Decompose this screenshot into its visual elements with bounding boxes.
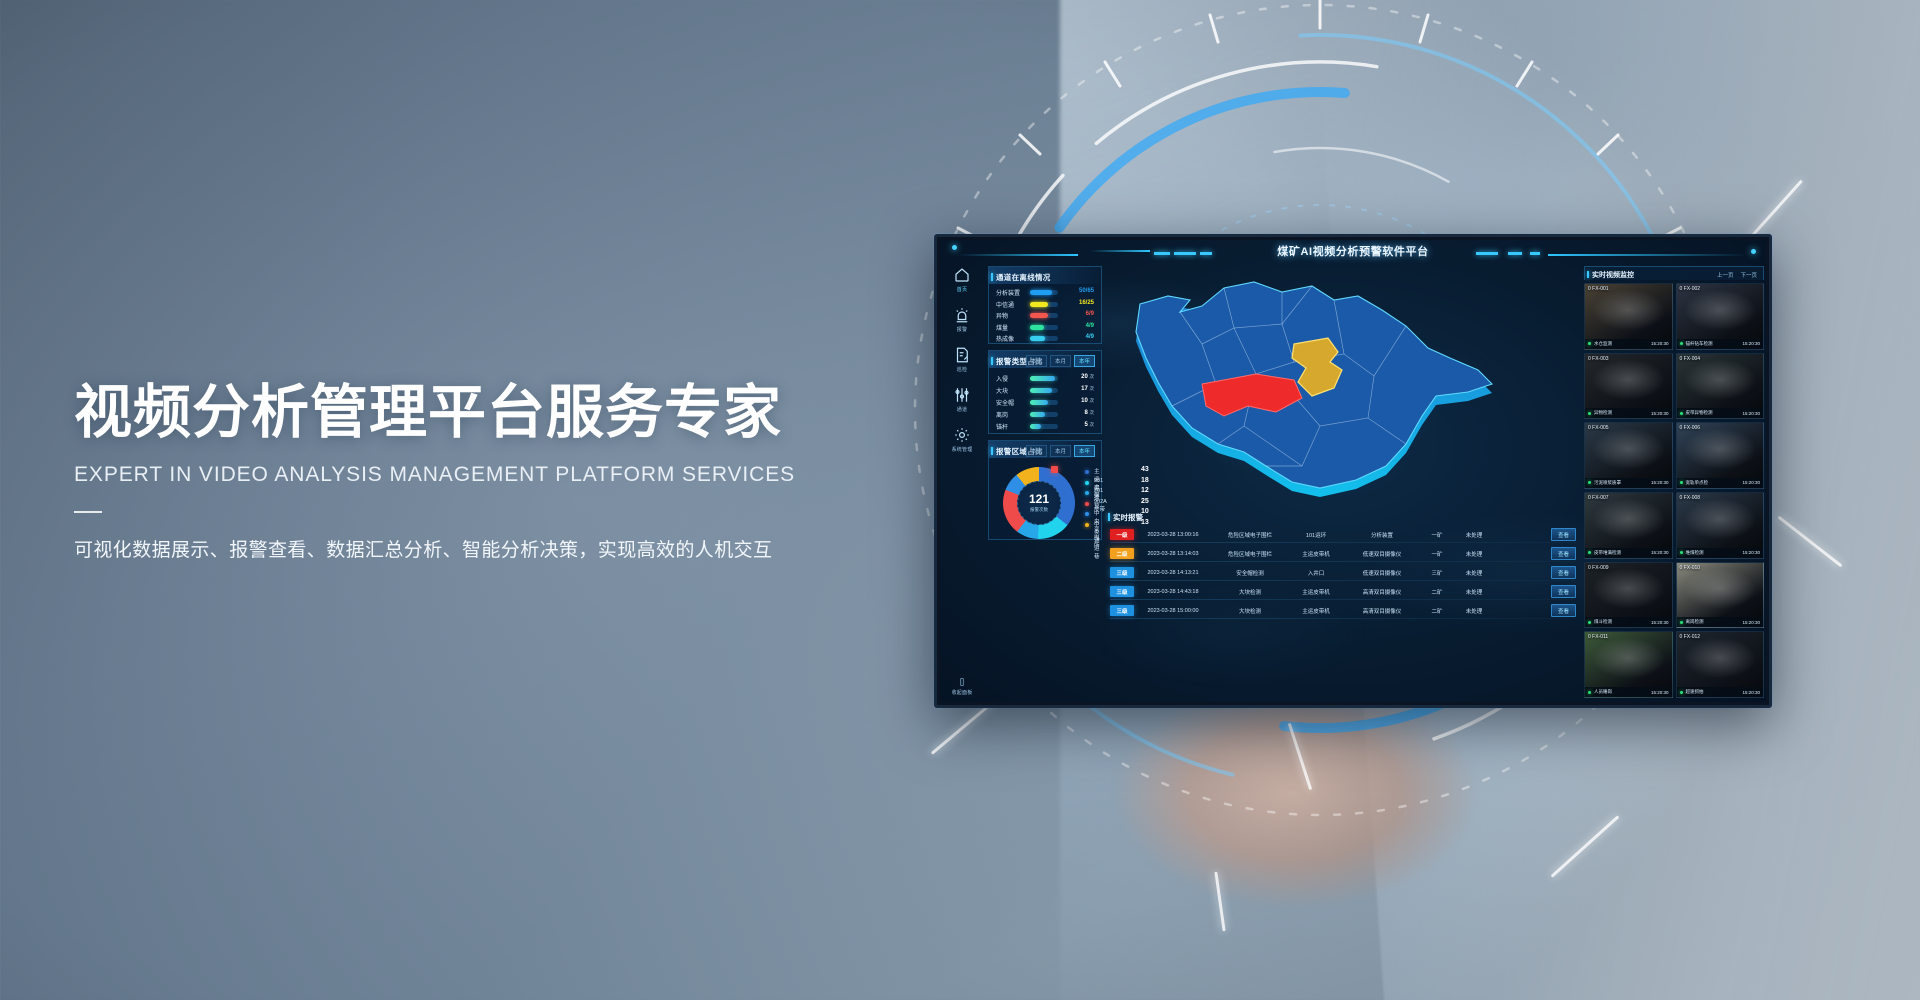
camera-id: 0 FX-010	[1680, 565, 1701, 571]
channel-bar-label: 热成像	[996, 334, 1028, 343]
channel-bar-label: 分析装置	[996, 288, 1028, 297]
camera-footer: 皮带堆满检测15:20:30	[1585, 548, 1672, 558]
alarm-device: 高清双目摄像仪	[1344, 607, 1420, 615]
alarm-location: 主运皮带机	[1288, 550, 1344, 558]
view-button[interactable]: 查看	[1551, 528, 1576, 541]
alarm-status: 未处理	[1454, 607, 1494, 615]
camera-name: 宽轨单点检	[1686, 480, 1709, 486]
camera-timestamp: 15:20:30	[1742, 480, 1760, 485]
alarm-type-value: 10 次	[1060, 398, 1094, 404]
alarm-mine: 一矿	[1420, 550, 1454, 558]
camera-id: 0 FX-004	[1680, 356, 1701, 362]
camera-name: 异物检测	[1594, 410, 1612, 416]
channel-bar-fill	[1030, 325, 1044, 330]
view-button[interactable]: 查看	[1551, 547, 1576, 560]
sidebar: 首页 报警 巡检 通道 系统管理	[940, 262, 984, 702]
status-dot-icon	[1588, 691, 1591, 694]
alarm-type: 大块检测	[1212, 607, 1288, 615]
camera-timestamp: 15:20:30	[1742, 341, 1760, 346]
alarm-status: 未处理	[1454, 550, 1494, 558]
camera-footer: 异物检测15:20:30	[1585, 408, 1672, 418]
legend-item: 201运算12	[1085, 488, 1095, 499]
alarm-type: 大块检测	[1212, 588, 1288, 596]
camera-footer: 人员睡岗15:20:30	[1585, 687, 1672, 697]
camera-id: 0 FX-003	[1588, 356, 1609, 362]
status-dot-icon	[1680, 412, 1683, 415]
camera-tile[interactable]: 0 FX-003异物检测15:20:30	[1584, 353, 1673, 420]
camera-tile[interactable]: 0 FX-004皮带异物检测15:20:30	[1676, 353, 1765, 420]
camera-name: 超速抓拍	[1686, 689, 1704, 695]
video-surveillance-panel: 实时视频监控 上一页 下一页 0 FX-001水仓监测15:20:300 FX-…	[1584, 266, 1764, 698]
alarm-type-track	[1030, 388, 1058, 393]
sidebar-item-label: 通道	[940, 406, 984, 413]
camera-id: 0 FX-005	[1588, 425, 1609, 431]
video-panel-title: 实时视频监控	[1592, 270, 1634, 280]
home-icon	[953, 266, 971, 284]
alarm-mine: 二矿	[1420, 607, 1454, 615]
channel-bar-track	[1030, 325, 1058, 330]
alarm-device: 低速双目摄像仪	[1344, 569, 1420, 577]
alarm-device: 低速双目摄像仪	[1344, 550, 1420, 558]
camera-timestamp: 15:20:30	[1742, 550, 1760, 555]
dashboard-header: 煤矿AI视频分析预警软件平台	[940, 240, 1766, 266]
table-row[interactable]: 三级2023-03-28 14:13:21安全帽检测入井口低速双目摄像仪三矿未处…	[1110, 564, 1576, 581]
camera-name: 离岗检测	[1686, 619, 1704, 625]
channel-bar-value: 16/25	[1060, 300, 1094, 306]
camera-name: 煤斗检测	[1594, 619, 1612, 625]
status-dot-icon	[1588, 481, 1591, 484]
realtime-alarm-table: 实时报警 一级2023-03-28 13:00:16危险区域电子围栏101运环分…	[1106, 512, 1580, 698]
alarm-type: 安全帽检测	[1212, 569, 1288, 577]
alarm-type-value: 20 次	[1060, 374, 1094, 380]
alarm-status: 未处理	[1454, 569, 1494, 577]
view-button[interactable]: 查看	[1551, 604, 1576, 617]
alarm-device: 分析装置	[1344, 531, 1420, 539]
legend-item: 902A皮带25	[1085, 499, 1095, 510]
sidebar-item-inspection[interactable]: 巡检	[940, 346, 984, 373]
view-button[interactable]: 查看	[1551, 585, 1576, 598]
legend-dot	[1085, 523, 1089, 527]
page-description: 可视化数据展示、报警查看、数据汇总分析、智能分析决策，实现高效的人机交互	[74, 535, 934, 562]
alarm-type-fill	[1030, 388, 1052, 393]
camera-tile[interactable]: 0 FX-006宽轨单点检15:20:30	[1676, 422, 1765, 489]
sidebar-item-home[interactable]: 首页	[940, 266, 984, 293]
camera-tile[interactable]: 0 FX-005污泥喷浆质罩15:20:30	[1584, 422, 1673, 489]
camera-id: 0 FX-006	[1680, 425, 1701, 431]
page-subtitle: EXPERT IN VIDEO ANALYSIS MANAGEMENT PLAT…	[74, 463, 934, 487]
camera-timestamp: 15:20:30	[1742, 690, 1760, 695]
video-pagination: 上一页 下一页	[1717, 271, 1757, 279]
tab-本月[interactable]: 本月	[1050, 355, 1071, 367]
channel-bar-row: 煤量4/9	[996, 322, 1094, 333]
alarm-time: 2023-03-28 13:00:16	[1134, 532, 1212, 538]
camera-id: 0 FX-011	[1588, 634, 1608, 640]
camera-tile[interactable]: 0 FX-007皮带堆满检测15:20:30	[1584, 492, 1673, 559]
channel-bar-value: 4/9	[1060, 323, 1094, 329]
legend-item: 主运皮带43	[1085, 467, 1095, 478]
camera-id: 0 FX-007	[1588, 495, 1609, 501]
channel-bar-track	[1030, 313, 1058, 318]
camera-tile[interactable]: 0 FX-011人员睡岗15:20:30	[1584, 631, 1673, 698]
channel-bar-fill	[1030, 302, 1048, 307]
alarm-table-title: 实时报警	[1113, 512, 1143, 523]
donut-center: 121 报警次数	[1017, 481, 1061, 525]
channel-bar-row: 异物6/9	[996, 310, 1094, 321]
alarm-time: 2023-03-28 13:14:03	[1134, 551, 1212, 557]
channel-bar-label: 异物	[996, 311, 1028, 320]
status-badge: 三级	[1110, 567, 1134, 578]
status-badge: 二级	[1110, 548, 1134, 559]
alarm-area-panel: 报警区域占比 本周本月本年 121 报警次数 主运皮带43901运环18201运…	[988, 440, 1102, 540]
channel-bar-fill	[1030, 313, 1048, 318]
page-title: 视频分析管理平台服务专家	[74, 382, 934, 445]
channel-bar-value: 50/65	[1060, 288, 1094, 294]
camera-name: 皮带堆满检测	[1594, 550, 1621, 556]
alarm-time: 2023-03-28 14:13:21	[1134, 570, 1212, 576]
camera-footer: 堆煤检测15:20:30	[1677, 548, 1764, 558]
channel-bar-track	[1030, 290, 1058, 295]
camera-name: 水仓监测	[1594, 341, 1612, 347]
status-badge: 三级	[1110, 605, 1134, 616]
alarm-type-fill	[1030, 424, 1041, 429]
camera-footer: 煤斗检测15:20:30	[1585, 617, 1672, 627]
camera-name: 污泥喷浆质罩	[1594, 480, 1621, 486]
camera-grid: 0 FX-001水仓监测15:20:300 FX-002锚杆钻车检测15:20:…	[1584, 280, 1764, 698]
camera-id: 0 FX-012	[1680, 634, 1701, 640]
camera-timestamp: 15:20:30	[1651, 480, 1669, 485]
monitor-frame: 煤矿AI视频分析预警软件平台 首页 报警 巡检	[934, 234, 1772, 708]
camera-tile[interactable]: 0 FX-010离岗检测15:20:30	[1676, 562, 1765, 629]
camera-timestamp: 15:20:30	[1651, 690, 1669, 695]
alarm-device: 高清双目摄像仪	[1344, 588, 1420, 596]
alarm-time: 2023-03-28 15:00:00	[1134, 608, 1212, 614]
province-map[interactable]	[1106, 266, 1504, 516]
alarm-type-row: 锚杆5 次	[996, 421, 1094, 432]
sidebar-item-channel[interactable]: 通道	[940, 386, 984, 413]
type-panel-tabs: 本周本月本年	[1026, 355, 1095, 367]
alarm-area-donut-chart: 121 报警次数	[1003, 467, 1075, 539]
alarm-type-value: 8 次	[1060, 410, 1094, 416]
camera-timestamp: 15:20:30	[1651, 550, 1669, 555]
camera-id: 0 FX-001	[1588, 286, 1609, 292]
alarm-type-label: 入侵	[996, 374, 1028, 383]
camera-timestamp: 15:20:30	[1651, 620, 1669, 625]
channel-status-panel: 通道在离线情况 分析装置50/65中信通16/25异物6/9煤量4/9热成像4/…	[988, 266, 1102, 344]
status-dot-icon	[1680, 621, 1683, 624]
camera-timestamp: 15:20:30	[1742, 620, 1760, 625]
alarm-location: 主运皮带机	[1288, 588, 1344, 596]
donut-value: 121	[1029, 493, 1049, 505]
channel-bar-track	[1030, 336, 1058, 341]
sidebar-item-label: 系统管理	[940, 446, 984, 453]
camera-footer: 污泥喷浆质罩15:20:30	[1585, 478, 1672, 488]
sidebar-item-label: 首页	[940, 286, 984, 293]
legend-dot	[1085, 512, 1089, 516]
camera-footer: 皮带异物检测15:20:30	[1677, 408, 1764, 418]
channel-bar-label: 煤量	[996, 323, 1028, 332]
table-row[interactable]: 三级2023-03-28 14:43:18大块检测主运皮带机高清双目摄像仪二矿未…	[1110, 583, 1576, 600]
tab-本周[interactable]: 本周	[1026, 445, 1047, 457]
camera-tile[interactable]: 0 FX-001水仓监测15:20:30	[1584, 283, 1673, 350]
camera-footer: 水仓监测15:20:30	[1585, 339, 1672, 349]
camera-footer: 离岗检测15:20:30	[1677, 617, 1764, 627]
legend-item: 中央辅运巷13	[1085, 520, 1095, 531]
channel-icon	[953, 386, 971, 404]
view-button[interactable]: 查看	[1551, 566, 1576, 579]
tab-本月[interactable]: 本月	[1050, 445, 1071, 457]
camera-name: 皮带异物检测	[1686, 410, 1713, 416]
status-badge: 一级	[1110, 529, 1134, 540]
alarm-type-label: 大块	[996, 386, 1028, 395]
alarm-type-value: 5 次	[1060, 422, 1094, 428]
donut-marker	[1051, 466, 1058, 473]
camera-tile[interactable]: 0 FX-012超速抓拍15:20:30	[1676, 631, 1765, 698]
status-dot-icon	[1680, 481, 1683, 484]
alarm-type-label: 安全帽	[996, 398, 1028, 407]
legend-item: 中央变电所10	[1085, 509, 1095, 520]
camera-id: 0 FX-008	[1680, 495, 1701, 501]
alarm-type: 危险区域电子围栏	[1212, 550, 1288, 558]
alarm-type-row: 入侵20 次	[996, 373, 1094, 384]
alarm-type-panel: 报警类型占比 本周本月本年 入侵20 次大块17 次安全帽10 次离岗8 次锚杆…	[988, 350, 1102, 434]
alarm-type-fill	[1030, 400, 1048, 405]
channel-bar-fill	[1030, 290, 1052, 295]
status-dot-icon	[1588, 621, 1591, 624]
alarm-type-track	[1030, 412, 1058, 417]
alarm-status: 未处理	[1454, 531, 1494, 539]
gear-icon	[953, 426, 971, 444]
donut-legend: 主运皮带43901运环18201运算12902A皮带25中央变电所10中央辅运巷…	[1085, 467, 1095, 530]
status-dot-icon	[1588, 551, 1591, 554]
area-panel-tabs: 本周本月本年	[1026, 445, 1095, 457]
camera-timestamp: 15:20:30	[1651, 341, 1669, 346]
legend-dot	[1085, 481, 1089, 485]
channel-bar-label: 中信通	[996, 300, 1028, 309]
alarm-type-fill	[1030, 412, 1045, 417]
dashboard-title: 煤矿AI视频分析预警软件平台	[1277, 243, 1428, 259]
sidebar-item-label: 报警	[940, 326, 984, 333]
alarm-location: 主运皮带机	[1288, 607, 1344, 615]
alarm-mine: 二矿	[1420, 588, 1454, 596]
channel-bar-fill	[1030, 336, 1045, 341]
camera-name: 锚杆钻车检测	[1686, 341, 1713, 347]
camera-tile[interactable]: 0 FX-009煤斗检测15:20:30	[1584, 562, 1673, 629]
camera-id: 0 FX-009	[1588, 565, 1609, 571]
status-dot-icon	[1680, 691, 1683, 694]
channel-bar-row: 中信通16/25	[996, 299, 1094, 310]
alarm-type-row: 离岗8 次	[996, 409, 1094, 420]
prev-page-button[interactable]: 上一页	[1717, 271, 1734, 279]
hero-text-block: 视频分析管理平台服务专家 EXPERT IN VIDEO ANALYSIS MA…	[74, 382, 934, 562]
alarm-location: 入井口	[1288, 569, 1344, 577]
alarm-type-track	[1030, 376, 1058, 381]
status-dot-icon	[1680, 342, 1683, 345]
camera-footer: 锚杆钻车检测15:20:30	[1677, 339, 1764, 349]
camera-footer: 超速抓拍15:20:30	[1677, 687, 1764, 697]
camera-name: 堆煤检测	[1686, 550, 1704, 556]
alarm-type-fill	[1030, 376, 1055, 381]
table-row[interactable]: 一级2023-03-28 13:00:16危险区域电子围栏101运环分析装置一矿…	[1110, 526, 1576, 543]
channel-bar-row: 热成像4/9	[996, 333, 1094, 344]
table-row[interactable]: 三级2023-03-28 15:00:00大块检测主运皮带机高清双目摄像仪二矿未…	[1110, 602, 1576, 619]
channel-panel-title: 通道在离线情况	[996, 272, 1051, 283]
next-page-button[interactable]: 下一页	[1740, 271, 1757, 279]
legend-dot	[1085, 502, 1089, 506]
sidebar-collapse-button[interactable]: 收起面板	[940, 677, 984, 696]
channel-bar-row: 分析装置50/65	[996, 287, 1094, 298]
status-dot-icon	[1588, 412, 1591, 415]
channel-bar-value: 4/9	[1060, 334, 1094, 340]
alarm-mine: 三矿	[1420, 569, 1454, 577]
alarm-mine: 一矿	[1420, 531, 1454, 539]
sidebar-item-alarm[interactable]: 报警	[940, 306, 984, 333]
collapse-icon	[953, 677, 971, 687]
alarm-type-track	[1030, 424, 1058, 429]
table-row[interactable]: 二级2023-03-28 13:14:03危险区域电子围栏主运皮带机低速双目摄像…	[1110, 545, 1576, 562]
legend-dot	[1085, 491, 1089, 495]
sidebar-item-system[interactable]: 系统管理	[940, 426, 984, 453]
alarm-type-label: 锚杆	[996, 422, 1028, 431]
tab-本年[interactable]: 本年	[1074, 445, 1095, 457]
legend-dot	[1085, 470, 1089, 474]
channel-bar-track	[1030, 302, 1058, 307]
camera-timestamp: 15:20:30	[1742, 411, 1760, 416]
alarm-type-label: 离岗	[996, 410, 1028, 419]
alarm-type: 危险区域电子围栏	[1212, 531, 1288, 539]
alarm-status: 未处理	[1454, 588, 1494, 596]
legend-label: 中央辅运巷	[1094, 520, 1100, 560]
sidebar-item-label: 巡检	[940, 366, 984, 373]
donut-caption: 报警次数	[1030, 507, 1048, 513]
status-dot-icon	[1680, 551, 1683, 554]
camera-name: 人员睡岗	[1594, 689, 1612, 695]
alarm-icon	[953, 306, 971, 324]
alarm-time: 2023-03-28 14:43:18	[1134, 589, 1212, 595]
camera-tile[interactable]: 0 FX-008堆煤检测15:20:30	[1676, 492, 1765, 559]
alarm-location: 101运环	[1288, 531, 1344, 539]
status-dot-icon	[1588, 342, 1591, 345]
camera-footer: 宽轨单点检15:20:30	[1677, 478, 1764, 488]
dashboard-screen: 煤矿AI视频分析预警软件平台 首页 报警 巡检	[940, 240, 1766, 702]
tab-本周[interactable]: 本周	[1026, 355, 1047, 367]
alarm-type-row: 安全帽10 次	[996, 397, 1094, 408]
sidebar-collapse-label: 收起面板	[940, 689, 984, 696]
camera-id: 0 FX-002	[1680, 286, 1701, 292]
legend-item: 901运环18	[1085, 478, 1095, 489]
channel-bar-value: 6/9	[1060, 311, 1094, 317]
divider	[74, 511, 102, 513]
tab-本年[interactable]: 本年	[1074, 355, 1095, 367]
alarm-type-row: 大块17 次	[996, 385, 1094, 396]
alarm-type-track	[1030, 400, 1058, 405]
camera-timestamp: 15:20:30	[1651, 411, 1669, 416]
status-badge: 三级	[1110, 586, 1134, 597]
alarm-type-value: 17 次	[1060, 386, 1094, 392]
inspection-icon	[953, 346, 971, 364]
camera-tile[interactable]: 0 FX-002锚杆钻车检测15:20:30	[1676, 283, 1765, 350]
